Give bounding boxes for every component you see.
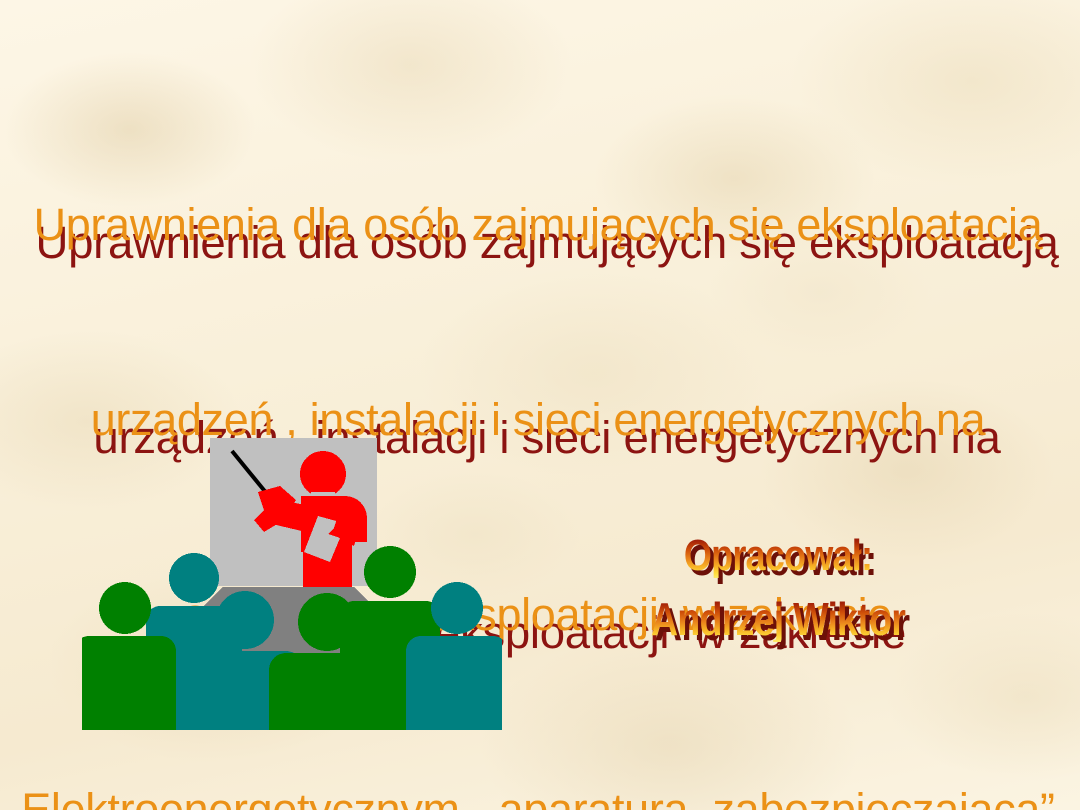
slide-title: Uprawnienia dla osób zajmujących się eks…: [0, 62, 1080, 362]
title-line-1: Uprawnienia dla osób zajmujących się eks…: [0, 192, 1077, 257]
author-role-label: Opracował:: [639, 534, 918, 578]
audience-member-mid-left-green: [82, 582, 176, 730]
presenter-head: [300, 451, 346, 497]
author-credit: Opracował: Opracował: Andrzej Wiktor And…: [608, 534, 948, 660]
author-name: Andrzej Wiktor Andrzej Wiktor: [608, 596, 948, 654]
author-role: Opracował: Opracował:: [608, 534, 948, 592]
author-name-label: Andrzej Wiktor: [639, 596, 918, 642]
title-line-4: Elektroenergetycznym „aparatura zabezpie…: [0, 777, 1077, 810]
slide-canvas: Uprawnienia dla osób zajmujących się eks…: [0, 0, 1080, 810]
lecture-presentation-clipart: [82, 430, 502, 730]
